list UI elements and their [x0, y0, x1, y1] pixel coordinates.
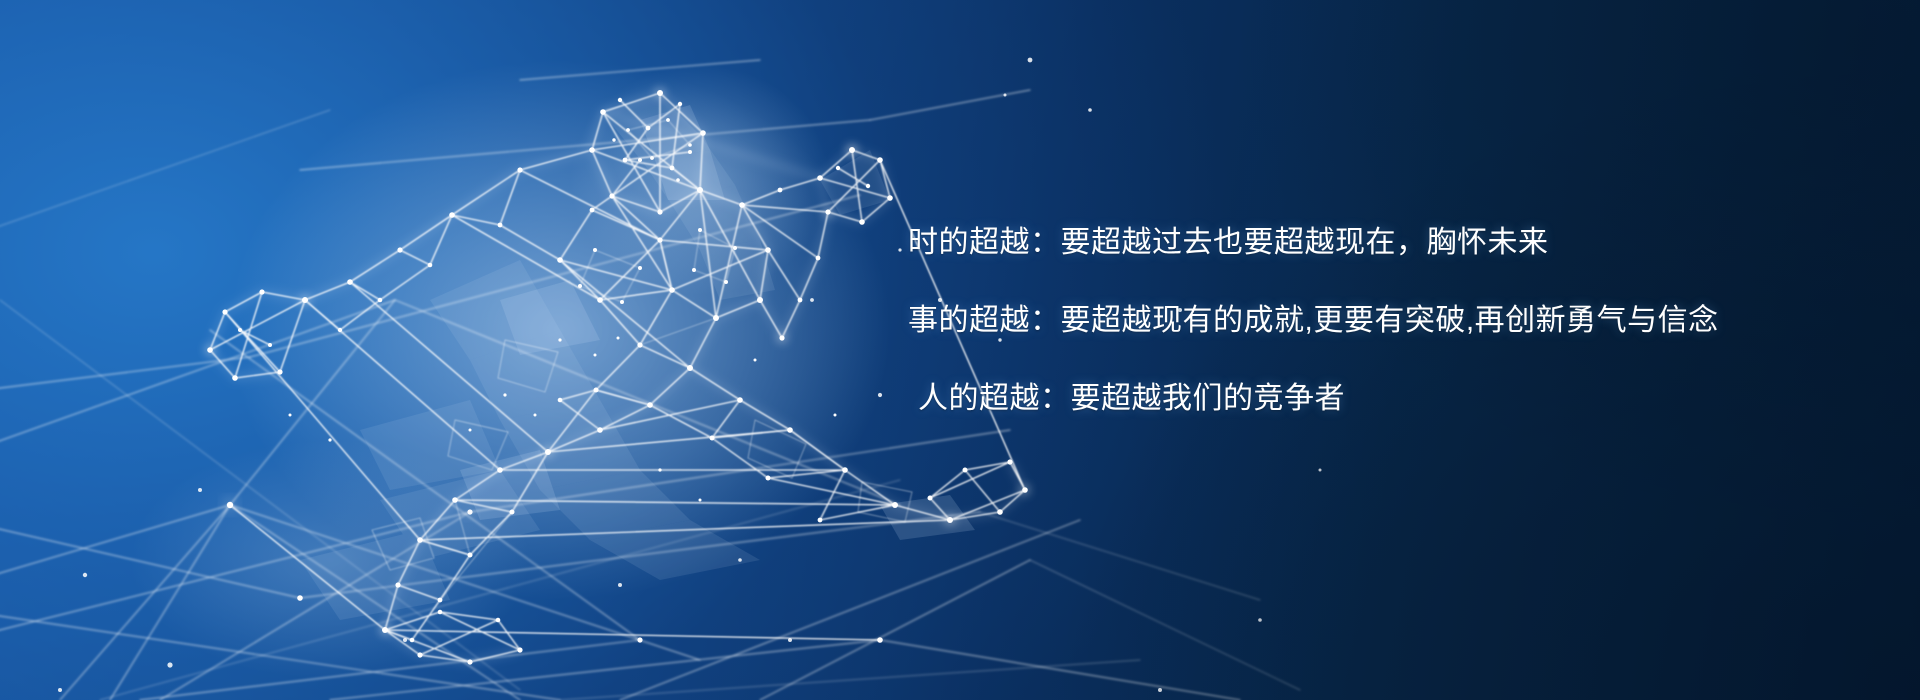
headline-people: 人的超越：要超越我们的竞争者	[918, 384, 1808, 414]
hero-banner: 时的超越：要超越过去也要超越现在，胸怀未来 事的超越：要超越现有的成就,更要有突…	[0, 0, 1920, 700]
headline-time: 时的超越：要超越过去也要超越现在，胸怀未来	[908, 228, 1808, 258]
headline-block: 时的超越：要超越过去也要超越现在，胸怀未来 事的超越：要超越现有的成就,更要有突…	[908, 228, 1808, 414]
headline-matter: 事的超越：要超越现有的成就,更要有突破,再创新勇气与信念	[908, 306, 1808, 336]
